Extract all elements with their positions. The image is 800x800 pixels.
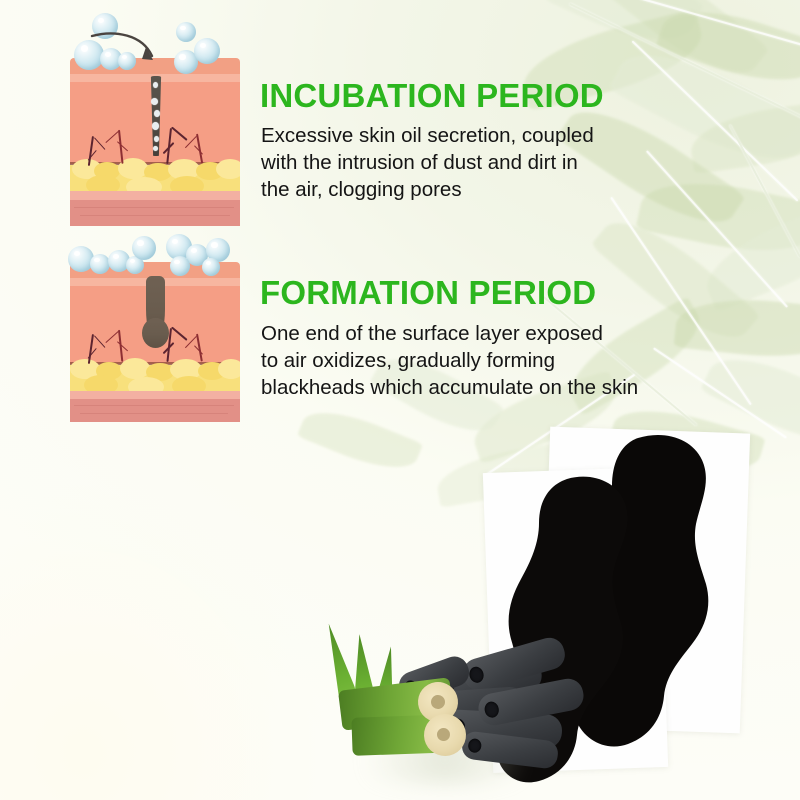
infographic-canvas: INCUBATION PERIOD Excessive skin oil sec… xyxy=(0,0,800,800)
dirt-intrusion-arrow xyxy=(90,30,170,70)
illustration-incubation xyxy=(70,58,240,226)
heading-formation: FORMATION PERIOD xyxy=(260,275,596,311)
body-formation-line-2: to air oxidizes, gradually forming xyxy=(261,347,555,374)
blackhead-plug-bulb xyxy=(142,318,169,348)
oil-bubble xyxy=(132,236,156,260)
heading-incubation: INCUBATION PERIOD xyxy=(260,78,604,114)
body-formation-line-3: blackheads which accumulate on the skin xyxy=(261,374,638,401)
oil-bubble xyxy=(176,22,196,42)
body-incubation-line-1: Excessive skin oil secretion, coupled xyxy=(261,122,594,149)
body-incubation-line-2: with the intrusion of dust and dirt in xyxy=(261,149,578,176)
body-incubation-line-3: the air, clogging pores xyxy=(261,176,462,203)
oil-bubble xyxy=(170,256,190,276)
body-formation-line-1: One end of the surface layer exposed xyxy=(261,320,603,347)
illustration-formation xyxy=(70,262,240,422)
oil-bubble xyxy=(202,258,220,276)
oil-bubble xyxy=(90,254,110,274)
oil-bubble xyxy=(194,38,220,64)
